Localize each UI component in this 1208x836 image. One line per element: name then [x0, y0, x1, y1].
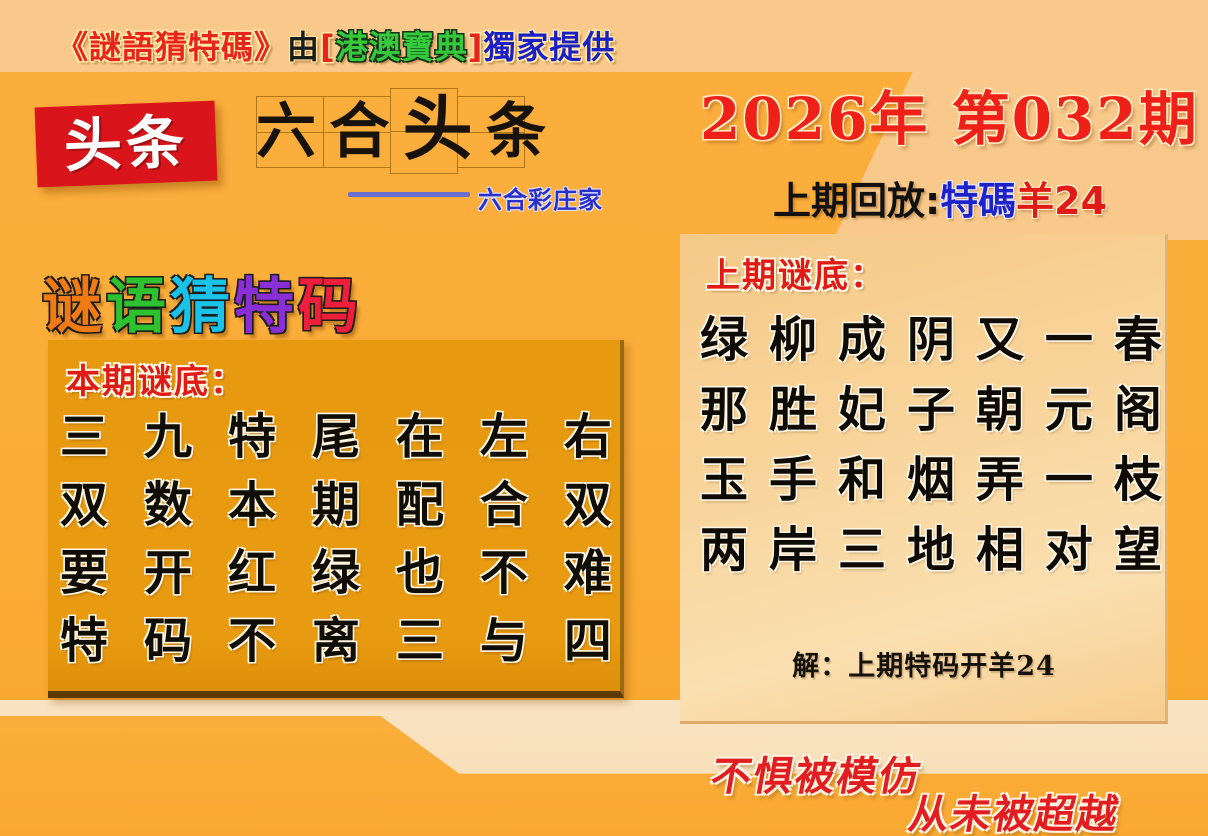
riddle-char: 四: [564, 601, 612, 671]
riddle-char: 不: [480, 533, 528, 603]
riddle-char: 要: [60, 533, 108, 603]
previous-riddle-line-1: 绿 柳 成 阴 又 一 春: [700, 300, 1162, 370]
riddle-char: 地: [907, 510, 955, 580]
header-title-main: 謎語猜特碼: [89, 22, 254, 68]
header-title-rbracket: ]: [468, 28, 484, 66]
logo-divider-line: [348, 192, 470, 197]
slogan-primary: 不惧被模仿: [707, 744, 927, 802]
riddle-char: 也: [396, 533, 444, 603]
previous-riddle-line-3: 玉 手 和 烟 弄 一 枝: [700, 440, 1162, 510]
previous-riddle-lines: 绿 柳 成 阴 又 一 春 那 胜 妃 子 朝 元 阁 玉 手 和 烟 弄 一 …: [700, 300, 1162, 580]
riddle-char: 阴: [907, 300, 955, 370]
riddle-char: 难: [564, 533, 612, 603]
recall-label: 上期回放:: [773, 179, 940, 223]
riddle-char: 特: [228, 397, 276, 467]
riddle-char: 右: [564, 397, 612, 467]
logo-char-1: 六: [256, 102, 316, 162]
header-title-exclusive: 獨家提供: [483, 22, 615, 68]
riddle-char: 弄: [976, 440, 1024, 510]
riddle-char: 又: [976, 300, 1024, 370]
riddle-char: 红: [228, 533, 276, 603]
riddle-char: 与: [480, 601, 528, 671]
riddle-char: 柳: [769, 300, 817, 370]
riddle-char: 那: [700, 370, 748, 440]
riddle-char: 子: [907, 370, 955, 440]
riddle-char: 绿: [312, 533, 360, 603]
section-title-char-1: 谜: [42, 258, 106, 345]
issue-number: 2026年 第032期: [700, 72, 1180, 156]
riddle-char: 离: [312, 601, 360, 671]
riddle-char: 左: [480, 397, 528, 467]
previous-riddle-explanation: 解：上期特码开羊24: [680, 644, 1168, 683]
header-title: 《謎語猜特碼》 由 [港澳寶典] 獨家提供: [56, 22, 615, 68]
riddle-char: 在: [396, 397, 444, 467]
riddle-char: 绿: [700, 300, 748, 370]
riddle-char: 枝: [1114, 440, 1162, 510]
logo-subtitle: 六合彩庄家: [478, 180, 603, 215]
header-title-open-bracket: 《: [56, 22, 89, 68]
riddle-char: 特: [60, 601, 108, 671]
recall-value: 羊24: [1016, 179, 1107, 223]
riddle-char: 期: [312, 465, 360, 535]
riddle-char: 不: [228, 601, 276, 671]
riddle-char: 阁: [1114, 370, 1162, 440]
header-title-connector: 由: [287, 22, 320, 68]
riddle-char: 妃: [838, 370, 886, 440]
header-title-close-bracket: 》: [254, 22, 287, 68]
riddle-char: 和: [838, 440, 886, 510]
section-title-char-4: 特: [234, 258, 298, 345]
riddle-char: 成: [838, 300, 886, 370]
logo-badge-text: 头条: [63, 113, 189, 176]
riddle-char: 岸: [769, 510, 817, 580]
riddle-char: 三: [60, 397, 108, 467]
riddle-char: 本: [228, 465, 276, 535]
riddle-char: 九: [144, 397, 192, 467]
logo-badge: 头条: [35, 101, 218, 188]
logo-wordmark: 六 合 头 条: [256, 92, 546, 172]
header-title-lbracket: [: [320, 28, 336, 66]
riddle-char: 胜: [769, 370, 817, 440]
header-title-brand: 港澳寶典: [336, 22, 468, 68]
riddle-char: 相: [976, 510, 1024, 580]
riddle-char: 春: [1114, 300, 1162, 370]
riddle-char: 三: [396, 601, 444, 671]
section-title-char-5: 码: [298, 258, 362, 345]
riddle-char: 对: [1045, 510, 1093, 580]
riddle-char: 数: [144, 465, 192, 535]
riddle-char: 开: [144, 533, 192, 603]
riddle-char: 朝: [976, 370, 1024, 440]
section-title-char-3: 猜: [170, 258, 234, 345]
riddle-char: 合: [480, 465, 528, 535]
section-title-char-2: 语: [106, 258, 170, 345]
riddle-char: 望: [1114, 510, 1162, 580]
riddle-char: 配: [396, 465, 444, 535]
slogan-secondary: 从未被超越: [905, 782, 1125, 836]
current-riddle-line-2: 双 数 本 期 配 合 双: [60, 466, 612, 534]
section-title: 谜语猜特码: [42, 258, 362, 345]
current-riddle-line-1: 三 九 特 尾 在 左 右: [60, 398, 612, 466]
current-riddle-line-3: 要 开 红 绿 也 不 难: [60, 534, 612, 602]
riddle-char: 两: [700, 510, 748, 580]
riddle-char: 尾: [312, 397, 360, 467]
logo-char-3: 头: [403, 94, 473, 164]
riddle-char: 元: [1045, 370, 1093, 440]
current-riddle-line-4: 特 码 不 离 三 与 四: [60, 602, 612, 670]
current-riddle-lines: 三 九 特 尾 在 左 右 双 数 本 期 配 合 双 要 开 红 绿 也 不 …: [60, 398, 612, 670]
recall-special-label: 特碼: [940, 179, 1016, 223]
riddle-char: 玉: [700, 440, 748, 510]
logo-char-4: 条: [486, 102, 546, 162]
previous-riddle-line-2: 那 胜 妃 子 朝 元 阁: [700, 370, 1162, 440]
previous-draw-recall: 上期回放:特碼羊24: [690, 170, 1190, 225]
riddle-char: 码: [144, 601, 192, 671]
logo-char-2: 合: [329, 102, 389, 162]
previous-riddle-label: 上期谜底：: [706, 248, 886, 297]
riddle-char: 三: [838, 510, 886, 580]
current-riddle-label: 本期谜底：: [66, 354, 246, 403]
riddle-char: 一: [1045, 440, 1093, 510]
previous-riddle-line-4: 两 岸 三 地 相 对 望: [700, 510, 1162, 580]
riddle-char: 双: [60, 465, 108, 535]
riddle-char: 手: [769, 440, 817, 510]
poster-canvas: 《謎語猜特碼》 由 [港澳寶典] 獨家提供 头条 六 合 头 条 六合彩庄家 2…: [0, 0, 1208, 836]
riddle-char: 烟: [907, 440, 955, 510]
riddle-char: 双: [564, 465, 612, 535]
riddle-char: 一: [1045, 300, 1093, 370]
